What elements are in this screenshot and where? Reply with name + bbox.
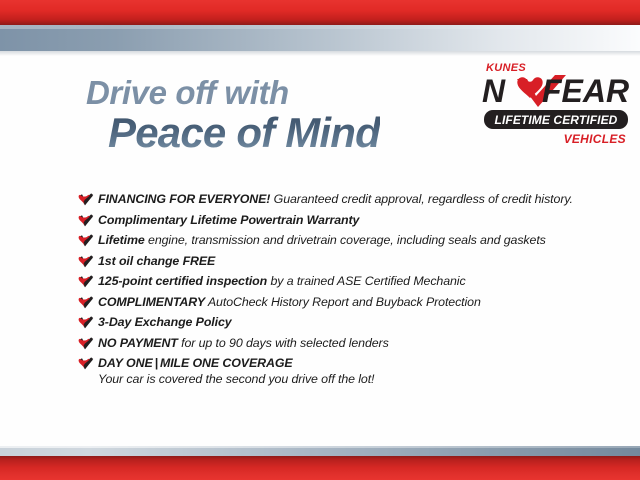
benefit-row: 125-point certified inspection by a trai… <box>78 274 618 289</box>
logo-vehicles-text: VEHICLES <box>564 132 626 146</box>
benefit-subtext: Your car is covered the second you drive… <box>98 372 618 386</box>
benefit-detail: engine, transmission and drivetrain cove… <box>145 233 546 247</box>
check-bullet <box>78 234 98 248</box>
logo-lifetime-badge: LIFETIME CERTIFIED <box>484 110 628 129</box>
benefit-row: Complimentary Lifetime Powertrain Warran… <box>78 213 618 228</box>
check-bullet-icon <box>78 234 94 248</box>
check-bullet <box>78 255 98 269</box>
logo-no-fear-wordmark: N FEAR <box>482 74 630 108</box>
logo-brand-text: KUNES <box>486 62 526 74</box>
logo-word-fear: FEAR <box>542 74 629 108</box>
check-bullet-icon <box>78 275 94 289</box>
check-bullet-icon <box>78 316 94 330</box>
benefit-row: FINANCING FOR EVERYONE! Guaranteed credi… <box>78 192 618 207</box>
benefit-text: Lifetime engine, transmission and drivet… <box>98 233 546 248</box>
benefit-detail: Guaranteed credit approval, regardless o… <box>270 192 573 206</box>
benefit-text: DAY ONE|MILE ONE COVERAGE <box>98 356 293 371</box>
benefit-headline-mile-one: MILE ONE COVERAGE <box>160 356 293 370</box>
benefit-row: 1st oil change FREE <box>78 254 618 269</box>
benefit-text: 3-Day Exchange Policy <box>98 315 232 330</box>
benefit-row: COMPLIMENTARY AutoCheck History Report a… <box>78 295 618 310</box>
benefit-text: 125-point certified inspection by a trai… <box>98 274 466 289</box>
check-bullet <box>78 296 98 310</box>
benefit-row: DAY ONE|MILE ONE COVERAGE <box>78 356 618 371</box>
check-bullet-icon <box>78 296 94 310</box>
check-bullet <box>78 275 98 289</box>
check-bullet <box>78 316 98 330</box>
check-bullet-icon <box>78 357 94 371</box>
benefit-detail: for up to 90 days with selected lenders <box>178 336 389 350</box>
benefit-headline: Complimentary Lifetime Powertrain Warran… <box>98 213 359 227</box>
headline-block: Drive off with Peace of Mind <box>86 76 380 154</box>
benefit-row: 3-Day Exchange Policy <box>78 315 618 330</box>
benefit-headline: Lifetime <box>98 233 145 247</box>
benefits-list: FINANCING FOR EVERYONE! Guaranteed credi… <box>78 192 618 386</box>
top-band-shadow <box>0 51 640 56</box>
headline-line-1: Drive off with <box>86 76 380 109</box>
check-bullet <box>78 337 98 351</box>
check-bullet <box>78 193 98 207</box>
benefit-text: Complimentary Lifetime Powertrain Warran… <box>98 213 359 228</box>
benefit-text: FINANCING FOR EVERYONE! Guaranteed credi… <box>98 192 573 207</box>
kunes-no-fear-logo: KUNES N FEAR LIFETIME CERTIFIED VEHICLES <box>478 62 630 160</box>
benefit-headline: 125-point certified inspection <box>98 274 267 288</box>
benefit-text: COMPLIMENTARY AutoCheck History Report a… <box>98 295 481 310</box>
benefit-headline: NO PAYMENT <box>98 336 178 350</box>
check-bullet-icon <box>78 337 94 351</box>
benefit-headline: 1st oil change FREE <box>98 254 215 268</box>
logo-letter-n: N <box>482 74 506 108</box>
bottom-gray-band <box>0 446 640 456</box>
check-bullet <box>78 214 98 228</box>
benefit-text: NO PAYMENT for up to 90 days with select… <box>98 336 389 351</box>
benefit-row: NO PAYMENT for up to 90 days with select… <box>78 336 618 351</box>
benefit-detail: AutoCheck History Report and Buyback Pro… <box>205 295 481 309</box>
benefit-row: Lifetime engine, transmission and drivet… <box>78 233 618 248</box>
benefit-headline: COMPLIMENTARY <box>98 295 205 309</box>
benefit-detail: by a trained ASE Certified Mechanic <box>267 274 465 288</box>
benefit-headline-day-one: DAY ONE <box>98 356 153 370</box>
check-bullet-icon <box>78 255 94 269</box>
benefit-row-final: DAY ONE|MILE ONE COVERAGEYour car is cov… <box>78 356 618 386</box>
benefit-headline: FINANCING FOR EVERYONE! <box>98 192 270 206</box>
benefit-headline: 3-Day Exchange Policy <box>98 315 232 329</box>
no-fear-svg: N FEAR <box>482 74 630 108</box>
check-bullet-icon <box>78 214 94 228</box>
check-bullet-icon <box>78 193 94 207</box>
bottom-red-band <box>0 456 640 480</box>
promo-banner: Drive off with Peace of Mind KUNES N FEA… <box>0 0 640 480</box>
check-bullet <box>78 357 98 371</box>
top-red-band <box>0 0 640 25</box>
headline-line-2: Peace of Mind <box>108 112 380 154</box>
top-gray-band <box>0 25 640 51</box>
benefit-separator: | <box>153 356 160 370</box>
logo-lifetime-text: LIFETIME CERTIFIED <box>495 113 618 127</box>
benefit-text: 1st oil change FREE <box>98 254 215 269</box>
